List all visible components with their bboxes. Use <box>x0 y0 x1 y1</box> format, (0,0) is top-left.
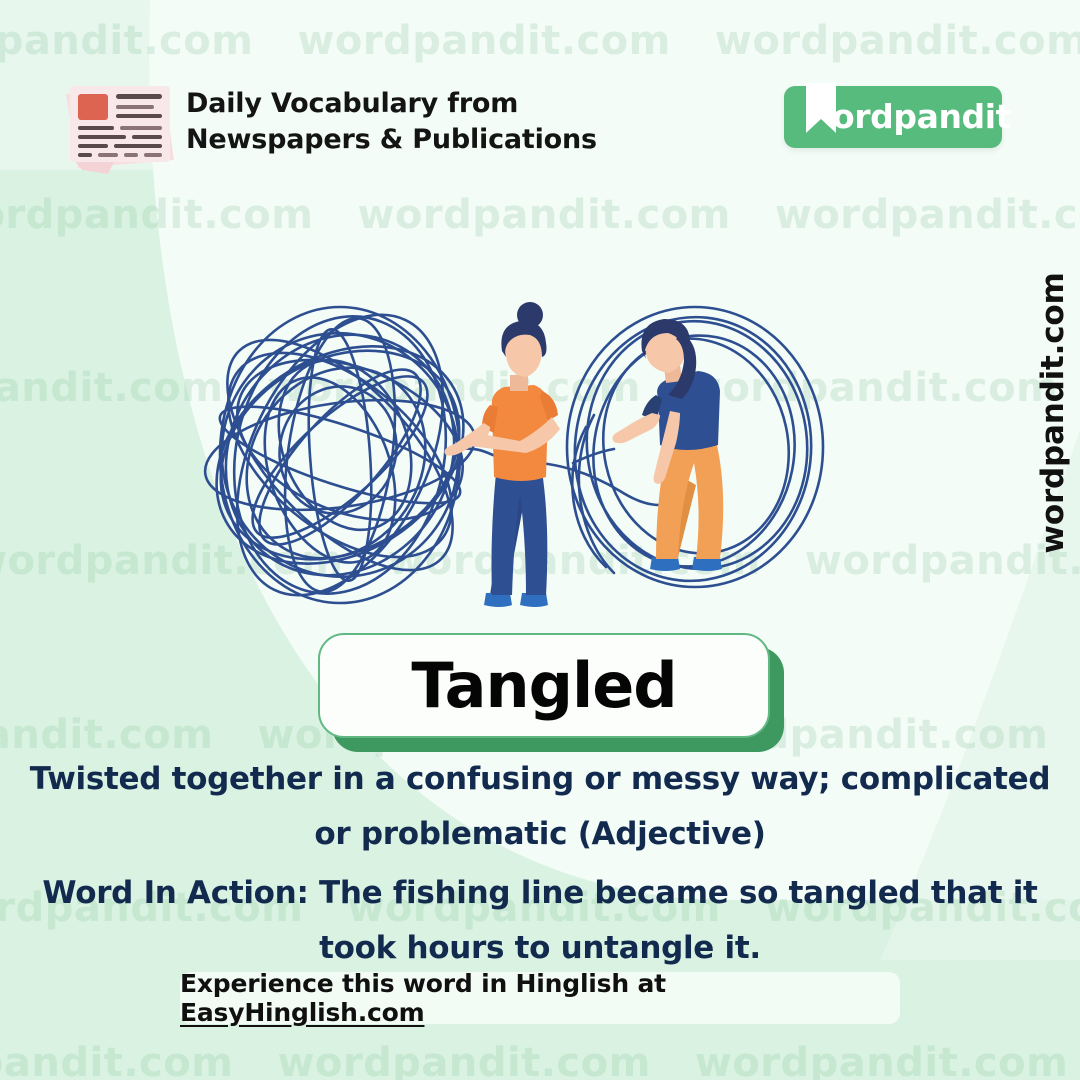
definition-line2: or problematic (Adjective) <box>10 807 1070 862</box>
definition-block: Twisted together in a confusing or messy… <box>10 752 1070 861</box>
header: Daily Vocabulary from Newspapers & Publi… <box>0 0 1080 185</box>
vocabulary-word: Tangled <box>411 649 676 722</box>
easyhinglish-link[interactable]: EasyHinglish.com <box>180 998 424 1027</box>
wordpandit-logo[interactable]: ordpandit <box>784 86 1002 148</box>
header-title-line2: Newspapers & Publications <box>186 122 597 158</box>
figure-right <box>612 319 723 571</box>
footer-bar[interactable]: Experience this word in Hinglish at Easy… <box>180 972 900 1024</box>
header-title: Daily Vocabulary from Newspapers & Publi… <box>186 86 597 157</box>
side-watermark: wordpandit.com <box>1030 268 1076 558</box>
tangled-threads-illustration <box>190 295 890 635</box>
vocabulary-card: wordpandit.comwordpandit.comwordpandit.c… <box>0 0 1080 1080</box>
example-block: Word In Action: The fishing line became … <box>10 866 1070 975</box>
footer-text: Experience this word in Hinglish at Easy… <box>180 969 900 1027</box>
side-watermark-text: wordpandit.com <box>1035 272 1071 553</box>
footer-prefix: Experience this word in Hinglish at <box>180 969 666 998</box>
brand-name: ordpandit <box>832 86 1011 148</box>
word-card: Tangled <box>318 633 770 741</box>
header-title-line1: Daily Vocabulary from <box>186 86 597 122</box>
definition-line1: Twisted together in a confusing or messy… <box>10 752 1070 807</box>
word-card-body: Tangled <box>318 633 770 738</box>
newspaper-icon <box>56 72 184 176</box>
example-line2: took hours to untangle it. <box>10 921 1070 976</box>
example-line1: Word In Action: The fishing line became … <box>10 866 1070 921</box>
